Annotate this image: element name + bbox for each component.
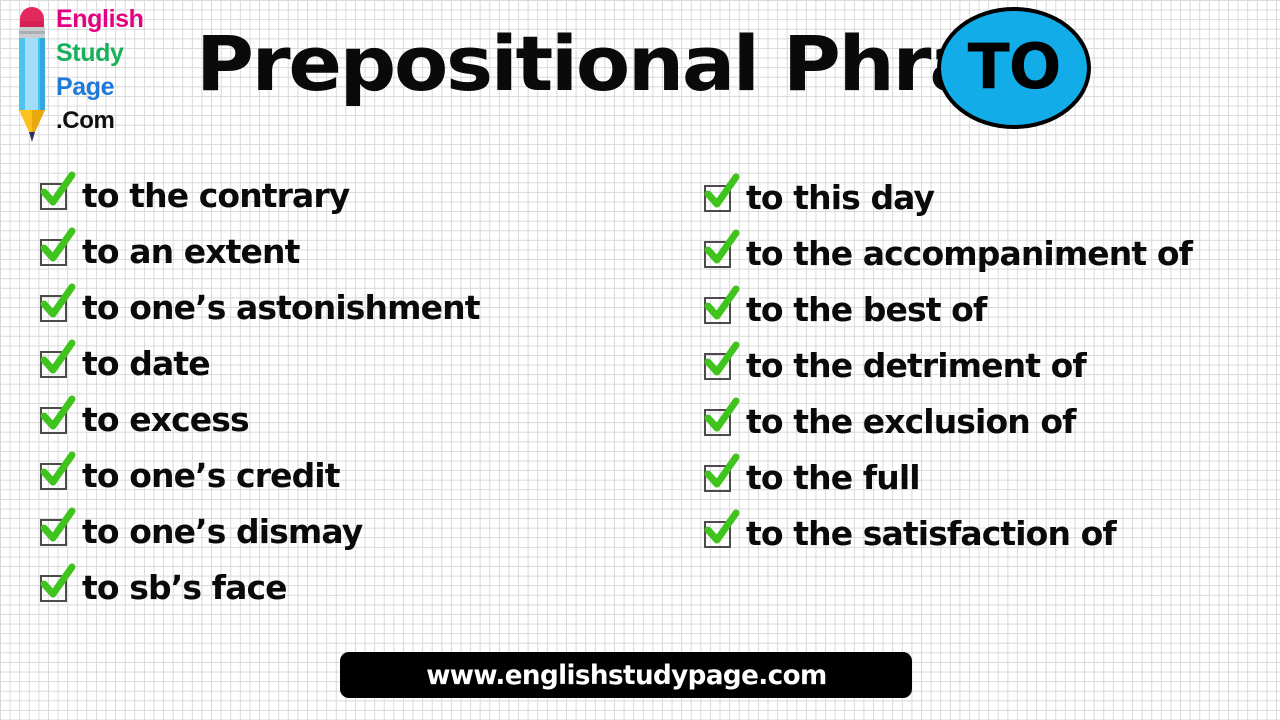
phrase-label: to the exclusion of: [746, 405, 1076, 438]
phrase-list-item[interactable]: to excess: [40, 391, 249, 447]
checkbox-checked[interactable]: [40, 460, 70, 490]
phrase-list-item[interactable]: to one’s credit: [40, 447, 340, 503]
checkmark-icon: [39, 395, 75, 435]
checkbox-checked[interactable]: [40, 348, 70, 378]
phrase-label: to the best of: [746, 293, 986, 326]
phrase-list-item[interactable]: to one’s astonishment: [40, 279, 480, 335]
checkmark-icon: [703, 509, 739, 549]
logo-line-study: Study: [56, 41, 123, 66]
checkbox-checked[interactable]: [40, 404, 70, 434]
phrase-label: to the accompaniment of: [746, 237, 1192, 270]
checkbox-checked[interactable]: [704, 462, 734, 492]
checkbox-checked[interactable]: [704, 182, 734, 212]
pencil-icon: [12, 6, 52, 146]
checkbox-checked[interactable]: [40, 236, 70, 266]
checkmark-icon: [39, 283, 75, 323]
checkbox-checked[interactable]: [704, 294, 734, 324]
checkbox-checked[interactable]: [40, 180, 70, 210]
website-footer-banner[interactable]: www.englishstudypage.com: [340, 652, 912, 698]
phrase-label: to the contrary: [82, 179, 349, 212]
phrase-list-item[interactable]: to the satisfaction of: [704, 505, 1116, 561]
checkmark-icon: [703, 453, 739, 493]
phrase-label: to this day: [746, 181, 934, 214]
phrase-list-item[interactable]: to this day: [704, 169, 934, 225]
checkbox-checked[interactable]: [704, 238, 734, 268]
phrase-list-item[interactable]: to sb’s face: [40, 559, 287, 615]
phrase-label: to the detriment of: [746, 349, 1086, 382]
logo-wordmark: English Study Page .Com: [56, 2, 186, 150]
checkmark-icon: [39, 339, 75, 379]
checkmark-icon: [703, 341, 739, 381]
checkbox-checked[interactable]: [704, 350, 734, 380]
phrase-label: to one’s astonishment: [82, 291, 480, 324]
badge-label: TO: [937, 7, 1091, 129]
phrase-list-item[interactable]: to the full: [704, 449, 920, 505]
checkmark-icon: [39, 227, 75, 267]
website-url: www.englishstudypage.com: [426, 660, 827, 691]
poster-canvas: English Study Page .Com Prepositional Ph…: [0, 0, 1280, 720]
page-title: Prepositional Phrase: [196, 14, 966, 114]
checkbox-checked[interactable]: [40, 572, 70, 602]
checkmark-icon: [703, 229, 739, 269]
phrase-list-item[interactable]: to the exclusion of: [704, 393, 1076, 449]
logo-line-english: English: [56, 7, 143, 32]
checkmark-icon: [703, 285, 739, 325]
checkmark-icon: [39, 451, 75, 491]
checkbox-checked[interactable]: [704, 518, 734, 548]
checkmark-icon: [39, 563, 75, 603]
checkbox-checked[interactable]: [40, 292, 70, 322]
phrase-list-item[interactable]: to date: [40, 335, 210, 391]
site-logo[interactable]: English Study Page .Com: [8, 2, 183, 150]
phrase-label: to the full: [746, 461, 920, 494]
logo-line-com: .Com: [56, 109, 114, 133]
preposition-badge: TO: [937, 7, 1091, 129]
phrase-label: to sb’s face: [82, 571, 287, 604]
checkmark-icon: [703, 397, 739, 437]
phrase-list-item[interactable]: to the contrary: [40, 167, 349, 223]
checkmark-icon: [703, 173, 739, 213]
phrase-label: to one’s dismay: [82, 515, 362, 548]
phrase-label: to date: [82, 347, 210, 380]
phrase-list-item[interactable]: to the best of: [704, 281, 986, 337]
checkbox-checked[interactable]: [704, 406, 734, 436]
checkmark-icon: [39, 171, 75, 211]
phrase-label: to an extent: [82, 235, 299, 268]
checkbox-checked[interactable]: [40, 516, 70, 546]
phrase-label: to one’s credit: [82, 459, 340, 492]
phrase-label: to excess: [82, 403, 249, 436]
phrase-list-item[interactable]: to the detriment of: [704, 337, 1086, 393]
phrase-list-item[interactable]: to one’s dismay: [40, 503, 362, 559]
checkmark-icon: [39, 507, 75, 547]
phrase-list-item[interactable]: to the accompaniment of: [704, 225, 1192, 281]
logo-line-page: Page: [56, 75, 114, 100]
phrase-list-item[interactable]: to an extent: [40, 223, 299, 279]
phrase-label: to the satisfaction of: [746, 517, 1116, 550]
